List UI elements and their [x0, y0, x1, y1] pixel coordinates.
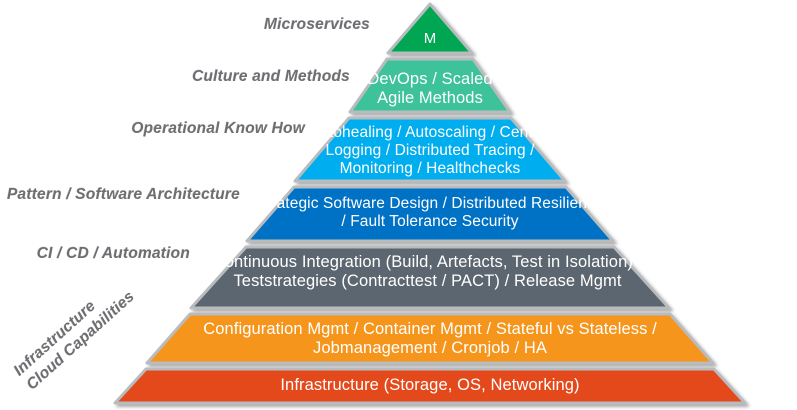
band-shape-infrastructure-base[interactable]	[115, 369, 745, 403]
side-label-pattern-software-architecture: Pattern / Software Architecture	[5, 186, 240, 204]
side-label-operational-know-how: Operational Know How	[60, 120, 305, 138]
side-label-culture-and-methods: Culture and Methods	[110, 68, 350, 86]
pyramid-shapes	[0, 0, 797, 410]
band-shape-operational-know-how[interactable]	[295, 118, 565, 181]
band-shape-ci-cd-automation[interactable]	[191, 247, 669, 308]
side-label-microservices: Microservices	[150, 16, 370, 34]
band-shape-culture-and-methods[interactable]	[350, 59, 510, 112]
band-shape-pattern-software-architecture[interactable]	[247, 187, 613, 241]
pyramid-diagram: M DevOps / Scaled Agile Methods Autoheal…	[0, 0, 797, 410]
band-shape-infrastructure-cloud-capabilities[interactable]	[147, 314, 713, 363]
band-shape-microservices[interactable]	[388, 4, 472, 53]
